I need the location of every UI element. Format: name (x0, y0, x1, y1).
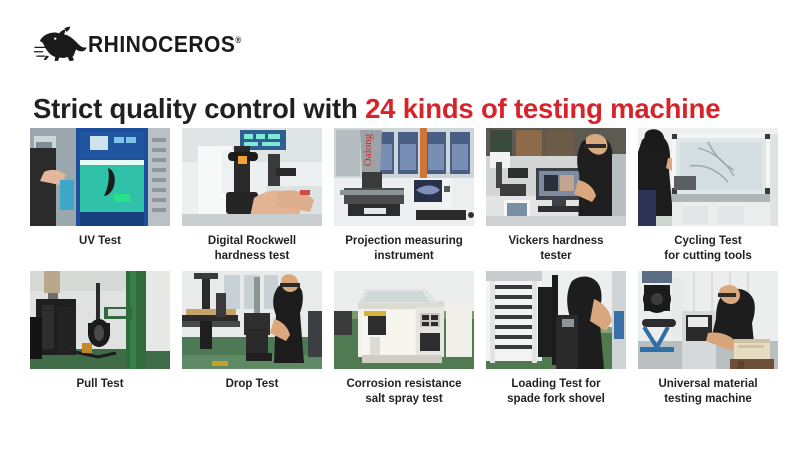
caption-vickers-hardness: Vickers hardnesstester (482, 234, 630, 263)
card-pull-test[interactable]: Pull Test (30, 271, 170, 406)
brand-wordmark: RHINOCEROS® (88, 32, 242, 56)
caption-uv-test: UV Test (26, 234, 174, 249)
card-projection-measuring[interactable]: Oalong Projection measuringinstrument (334, 128, 474, 263)
photo-salt-spray-test (334, 271, 474, 369)
caption-projection-measuring: Projection measuringinstrument (330, 234, 478, 263)
card-digital-rockwell[interactable]: Digital Rockwellhardness test (182, 128, 322, 263)
photo-drop-test (182, 271, 322, 369)
rhino-silhouette-icon (34, 26, 92, 62)
caption-pull-test: Pull Test (26, 377, 174, 392)
caption-loading-test: Loading Test forspade fork shovel (482, 377, 630, 406)
photo-loading-test (486, 271, 626, 369)
photo-cycling-test (638, 128, 778, 226)
caption-digital-rockwell: Digital Rockwellhardness test (178, 234, 326, 263)
photo-pull-test (30, 271, 170, 369)
page-title-lead: Strict quality control with (33, 93, 365, 124)
card-drop-test[interactable]: Drop Test (182, 271, 322, 406)
card-uv-test[interactable]: UV Test (30, 128, 170, 263)
brand-logo: RHINOCEROS® (34, 24, 242, 64)
caption-cycling-test: Cycling Testfor cutting tools (634, 234, 782, 263)
photo-universal-testing (638, 271, 778, 369)
caption-universal-testing: Universal materialtesting machine (634, 377, 782, 406)
card-cycling-test[interactable]: Cycling Testfor cutting tools (638, 128, 778, 263)
caption-salt-spray-test: Corrosion resistancesalt spray test (330, 377, 478, 406)
page-title: Strict quality control with 24 kinds of … (33, 94, 720, 124)
testing-machine-grid: UV Test (30, 128, 778, 407)
card-salt-spray-test[interactable]: Corrosion resistancesalt spray test (334, 271, 474, 406)
photo-projection-measuring: Oalong (334, 128, 474, 226)
card-vickers-hardness[interactable]: Vickers hardnesstester (486, 128, 626, 263)
card-loading-test[interactable]: Loading Test forspade fork shovel (486, 271, 626, 406)
page-title-accent: 24 kinds of testing machine (365, 93, 720, 124)
svg-text:Oalong: Oalong (362, 133, 374, 166)
card-universal-testing[interactable]: Universal materialtesting machine (638, 271, 778, 406)
photo-uv-test (30, 128, 170, 226)
caption-drop-test: Drop Test (178, 377, 326, 392)
photo-vickers-hardness (486, 128, 626, 226)
registered-trademark-mark: ® (235, 34, 241, 44)
photo-digital-rockwell (182, 128, 322, 226)
